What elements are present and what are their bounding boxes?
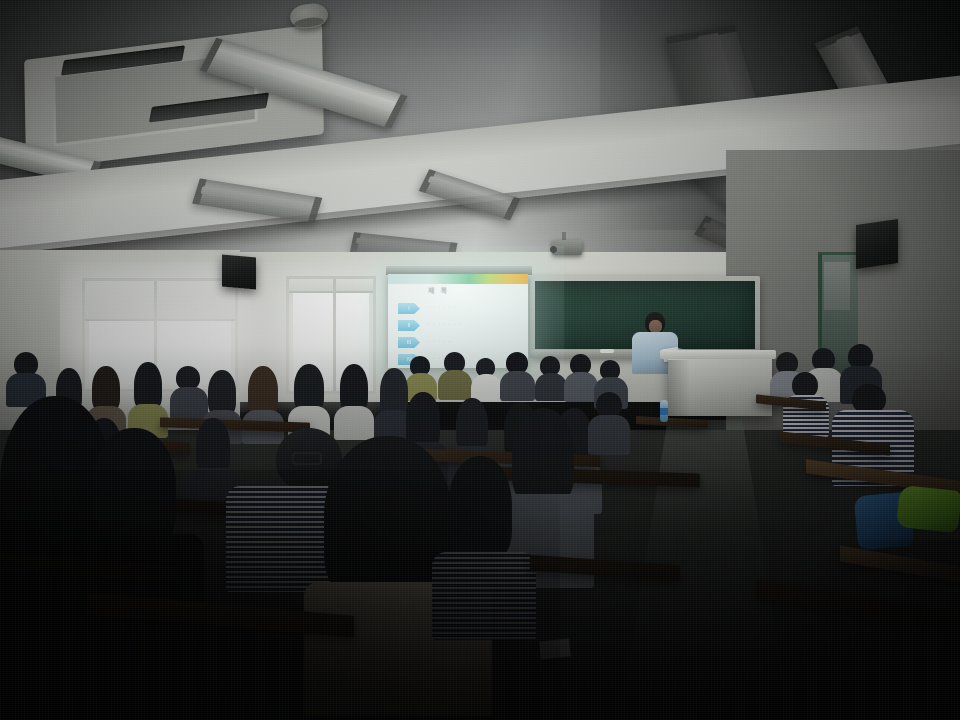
wall-speaker-icon — [222, 255, 256, 290]
slide-bullet-text: · · · · · · · — [428, 322, 462, 328]
slide-bullet-tag: II — [398, 320, 420, 331]
lectern-shadow — [668, 360, 690, 416]
glasses-icon — [292, 452, 322, 465]
wall-speaker-icon — [856, 219, 898, 269]
slide-bullet-item: II · · · · · · · — [398, 319, 522, 334]
slide-bullet-tag: III — [398, 337, 420, 348]
slide-bullet-tag: I — [398, 303, 420, 314]
green-jacket — [896, 485, 960, 533]
chalk-icon — [600, 349, 614, 353]
window-blind[interactable] — [85, 281, 235, 321]
slide-bullet-text: · · · · · · — [428, 305, 456, 311]
lectern-top — [660, 350, 776, 359]
slide-accent-bar — [388, 274, 528, 284]
slide-bullet-text: · · · · · — [428, 339, 451, 345]
water-bottle-label — [660, 408, 668, 415]
desk-leg — [140, 624, 145, 694]
lecture-hall-photo: 제 목 I · · · · · · II · · · · · · · III ·… — [0, 0, 960, 720]
slide-bullet-item: I · · · · · · — [398, 302, 522, 317]
slide-bullet-item: III · · · · · — [398, 336, 522, 351]
projector-lens-icon — [550, 246, 557, 253]
window-blind[interactable] — [289, 279, 373, 293]
slide-title: 제 목 — [428, 286, 449, 296]
paper-sheet — [539, 638, 571, 659]
desk-leg — [296, 636, 301, 702]
